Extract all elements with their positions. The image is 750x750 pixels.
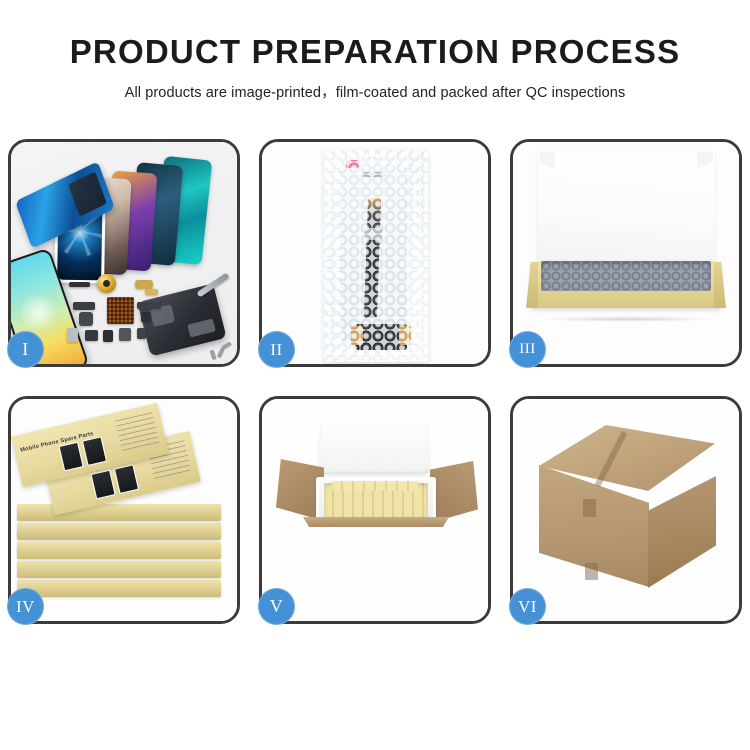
page-root: PRODUCT PREPARATION PROCESS All products… (0, 0, 750, 750)
spec-text-lines (115, 412, 160, 454)
white-box-lid-icon (537, 152, 715, 268)
step-panel-3[interactable]: III (510, 139, 742, 367)
bubble-wrapped-contents-icon (541, 261, 711, 291)
spare-part-icon (85, 330, 98, 341)
box-stack: Mobile Phone Spare Parts Mobile Phone Sp… (11, 399, 237, 621)
step-badge-2: II (258, 331, 295, 368)
drop-shadow (537, 316, 717, 322)
carton-body-icon (302, 523, 450, 597)
step-panel-1[interactable]: I (8, 139, 240, 367)
spare-part-icon (135, 280, 153, 289)
spare-part-icon (103, 330, 113, 342)
kraft-box-icon (17, 504, 221, 521)
step-badge-1: I (7, 331, 44, 368)
flex-cable-icon (364, 198, 381, 318)
kraft-box-icon (17, 523, 221, 540)
spare-part-icon (137, 328, 146, 339)
spare-part-icon (137, 302, 161, 309)
spare-part-icon (119, 328, 131, 341)
spare-part-icon (141, 312, 151, 322)
phone-thumbnail-icon (90, 470, 115, 500)
step-panel-2[interactable]: II (259, 139, 491, 367)
step-badge-5: V (258, 588, 295, 625)
spare-part-icon (79, 312, 93, 326)
bubble-wrap-bag-icon (324, 150, 428, 362)
step-panel-5[interactable]: V (259, 396, 491, 624)
spare-part-icon (145, 289, 158, 295)
step-image-3 (513, 142, 739, 364)
page-title: PRODUCT PREPARATION PROCESS (0, 34, 750, 70)
phone-thumbnail-icon (114, 464, 139, 494)
kraft-box-icon (17, 561, 221, 578)
step-image-4: Mobile Phone Spare Parts Mobile Phone Sp… (11, 399, 237, 621)
yellow-boxes-top-row-icon (332, 481, 418, 491)
foam-lid-icon (317, 416, 430, 474)
spare-part-icon (73, 302, 95, 310)
page-subtitle: All products are image-printed，film-coat… (0, 81, 750, 102)
gold-coil-part-icon (97, 274, 116, 293)
connector-grid-part-icon (107, 297, 134, 324)
phone-thumbnail-icon (82, 436, 107, 466)
process-step-grid: I II III (8, 139, 742, 684)
step-badge-3: III (509, 331, 546, 368)
spare-part-icon (67, 328, 78, 342)
step-image-2 (262, 142, 488, 364)
spare-part-icon (69, 282, 90, 287)
step-image-1 (11, 142, 237, 364)
step-badge-4: IV (7, 588, 44, 625)
step-panel-4[interactable]: Mobile Phone Spare Parts Mobile Phone Sp… (8, 396, 240, 624)
page-header: PRODUCT PREPARATION PROCESS All products… (0, 0, 750, 102)
step-image-5 (262, 399, 488, 621)
kraft-box-icon (17, 542, 221, 559)
connector-board-icon (355, 324, 407, 350)
phone-thumbnail-icon (58, 442, 83, 472)
carton-tape-icon (583, 499, 596, 517)
step-panel-6[interactable]: VI (510, 396, 742, 624)
pink-label-icon (346, 160, 359, 168)
step-image-6 (513, 399, 739, 621)
step-badge-6: VI (509, 588, 546, 625)
kraft-box-icon (17, 580, 221, 597)
lcd-screen-inside-icon (342, 166, 406, 342)
carton-tape-icon (585, 563, 598, 580)
